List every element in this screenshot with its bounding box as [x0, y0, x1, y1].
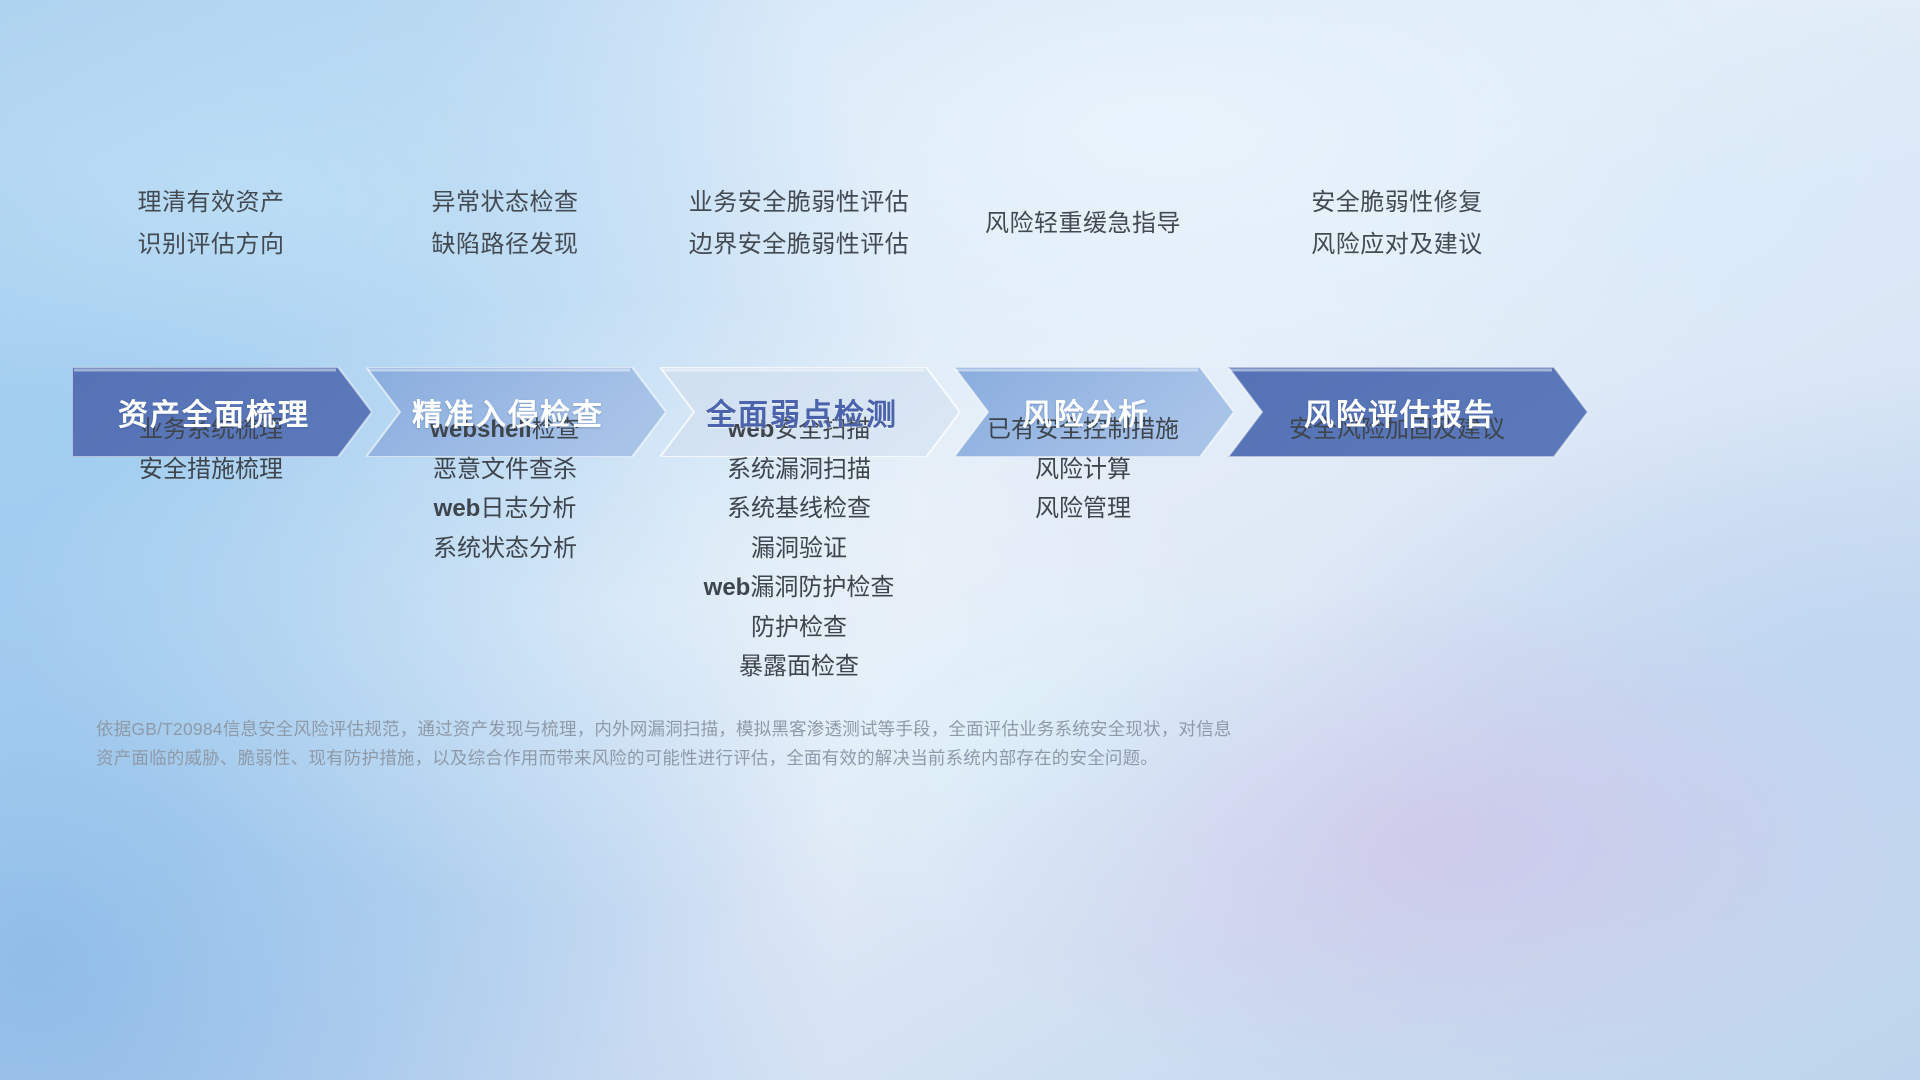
bottom-item-prefix: web	[434, 495, 481, 522]
bottom-item: 防护检查	[599, 608, 999, 648]
bottom-item: web漏洞防护检查	[599, 568, 999, 608]
bottom-item: 风险管理	[883, 489, 1283, 529]
chevron-title-intrusion-check: 精准入侵检查	[366, 390, 666, 434]
footer-line-1: 依据GB/T20984信息安全风险评估规范，通过资产发现与梳理，内外网漏洞扫描，…	[96, 715, 1626, 744]
bottom-item: 暴露面检查	[599, 647, 999, 687]
footer-description: 依据GB/T20984信息安全风险评估规范，通过资产发现与梳理，内外网漏洞扫描，…	[96, 715, 1626, 773]
process-diagram: 理清有效资产识别评估方向异常状态检查缺陷路径发现业务安全脆弱性评估边界安全脆弱性…	[0, 0, 1920, 1080]
chevron-title-weakness-detection: 全面弱点检测	[660, 390, 960, 434]
top-item: 风险应对及建议	[1197, 224, 1597, 266]
chevron-title-asset-inventory: 资产全面梳理	[72, 390, 372, 434]
chevron-title-risk-report: 风险评估报告	[1228, 390, 1588, 434]
bottom-item: 风险计算	[883, 450, 1283, 490]
bottom-item-prefix: web	[704, 574, 751, 601]
bottom-item: 漏洞验证	[599, 529, 999, 569]
footer-line-2: 资产面临的威胁、脆弱性、现有防护措施，以及综合作用而带来风险的可能性进行评估，全…	[96, 744, 1626, 773]
top-items-risk-report: 安全脆弱性修复风险应对及建议	[1197, 182, 1597, 266]
top-item: 安全脆弱性修复	[1197, 182, 1597, 224]
chevron-title-risk-analysis: 风险分析	[954, 390, 1234, 434]
